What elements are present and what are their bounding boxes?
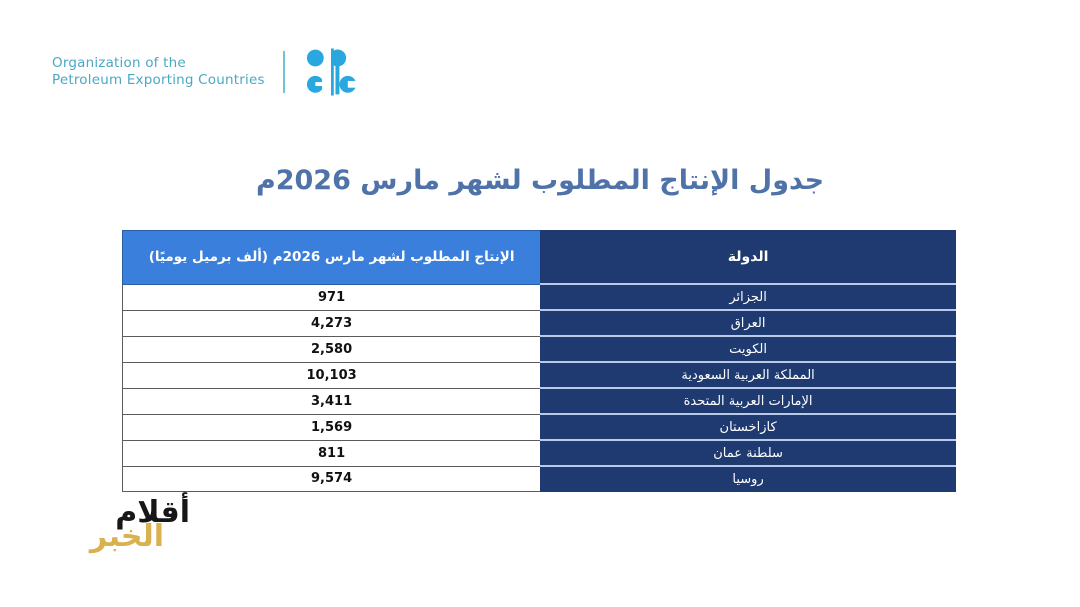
- cell-required-production: 9,574: [123, 466, 541, 492]
- brand-line-2: Petroleum Exporting Countries: [52, 72, 265, 89]
- cell-country: سلطنة عمان: [541, 440, 956, 466]
- cell-required-production: 971: [123, 284, 541, 310]
- table-row: روسيا9,574: [123, 466, 956, 492]
- opec-logo-icon: [303, 44, 359, 100]
- table-body: الجزائر971العراق4,273الكويت2,580المملكة …: [123, 284, 956, 492]
- table-row: العراق4,273: [123, 310, 956, 336]
- table-row: كازاخستان1,569: [123, 414, 956, 440]
- table-row: سلطنة عمان811: [123, 440, 956, 466]
- cell-country: المملكة العربية السعودية: [541, 362, 956, 388]
- cell-required-production: 4,273: [123, 310, 541, 336]
- cell-country: الجزائر: [541, 284, 956, 310]
- brand-text: Organization of the Petroleum Exporting …: [52, 55, 265, 89]
- table-header-row: الدولة الإنتاج المطلوب لشهر مارس 2026م (…: [123, 231, 956, 285]
- watermark-aqlam-alkhabar: أقلام الخبر: [48, 498, 198, 560]
- cell-country: روسيا: [541, 466, 956, 492]
- table-row: الكويت2,580: [123, 336, 956, 362]
- opec-brand: Organization of the Petroleum Exporting …: [52, 44, 359, 100]
- cell-country: الكويت: [541, 336, 956, 362]
- table-row: الإمارات العربية المتحدة3,411: [123, 388, 956, 414]
- cell-required-production: 811: [123, 440, 541, 466]
- column-header-country: الدولة: [541, 231, 956, 285]
- column-header-required-production: الإنتاج المطلوب لشهر مارس 2026م (ألف برم…: [123, 231, 541, 285]
- cell-required-production: 3,411: [123, 388, 541, 414]
- production-table-container: الدولة الإنتاج المطلوب لشهر مارس 2026م (…: [122, 230, 956, 492]
- table-row: الجزائر971: [123, 284, 956, 310]
- production-table: الدولة الإنتاج المطلوب لشهر مارس 2026م (…: [122, 230, 956, 492]
- brand-line-1: Organization of the: [52, 55, 265, 72]
- table-header: الدولة الإنتاج المطلوب لشهر مارس 2026م (…: [123, 231, 956, 285]
- brand-divider: [283, 51, 285, 93]
- cell-required-production: 1,569: [123, 414, 541, 440]
- cell-required-production: 10,103: [123, 362, 541, 388]
- cell-country: الإمارات العربية المتحدة: [541, 388, 956, 414]
- cell-country: العراق: [541, 310, 956, 336]
- cell-country: كازاخستان: [541, 414, 956, 440]
- cell-required-production: 2,580: [123, 336, 541, 362]
- table-row: المملكة العربية السعودية10,103: [123, 362, 956, 388]
- page-title: جدول الإنتاج المطلوب لشهر مارس 2026م: [0, 165, 1080, 196]
